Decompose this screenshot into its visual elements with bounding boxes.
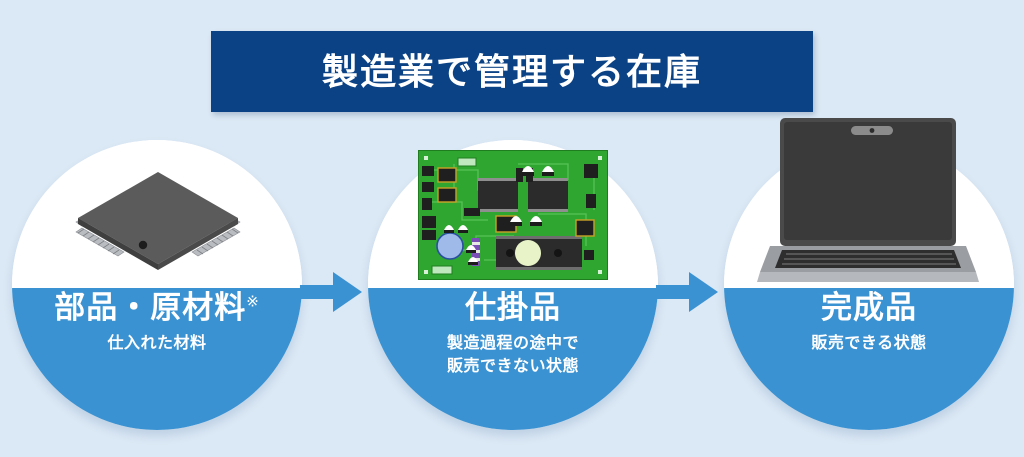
step-title: 仕掛品: [368, 290, 658, 326]
infographic-canvas: 製造業で管理する在庫 部品・原材料※ 仕入れた材料 仕掛品 製造過程の途中で 販…: [0, 0, 1024, 457]
footnote-mark: ※: [246, 294, 260, 311]
laptop-icon: [748, 112, 988, 287]
step-subtitle: 販売できる状態: [724, 332, 1014, 355]
step-label-group: 部品・原材料※ 仕入れた材料: [12, 290, 302, 355]
step-subtitle: 仕入れた材料: [12, 332, 302, 355]
microchip-icon: [58, 152, 258, 282]
arrow-right-icon: [300, 270, 362, 314]
step-subtitle-line1: 仕入れた材料: [12, 332, 302, 355]
step-title-text: 部品・原材料: [54, 290, 246, 325]
arrow-right-icon: [656, 270, 718, 314]
circuit-board-icon: [418, 150, 608, 280]
page-title: 製造業で管理する在庫: [322, 54, 702, 90]
step-subtitle-line2: 販売できない状態: [368, 355, 658, 378]
step-subtitle: 製造過程の途中で 販売できない状態: [368, 332, 658, 378]
step-title-text: 完成品: [821, 290, 917, 325]
step-label-group: 完成品 販売できる状態: [724, 290, 1014, 355]
title-banner: 製造業で管理する在庫: [211, 31, 813, 112]
step-title-text: 仕掛品: [465, 290, 561, 325]
step-title: 部品・原材料※: [12, 290, 302, 326]
step-title: 完成品: [724, 290, 1014, 326]
step-label-group: 仕掛品 製造過程の途中で 販売できない状態: [368, 290, 658, 378]
step-subtitle-line1: 製造過程の途中で: [368, 332, 658, 355]
step-subtitle-line1: 販売できる状態: [724, 332, 1014, 355]
